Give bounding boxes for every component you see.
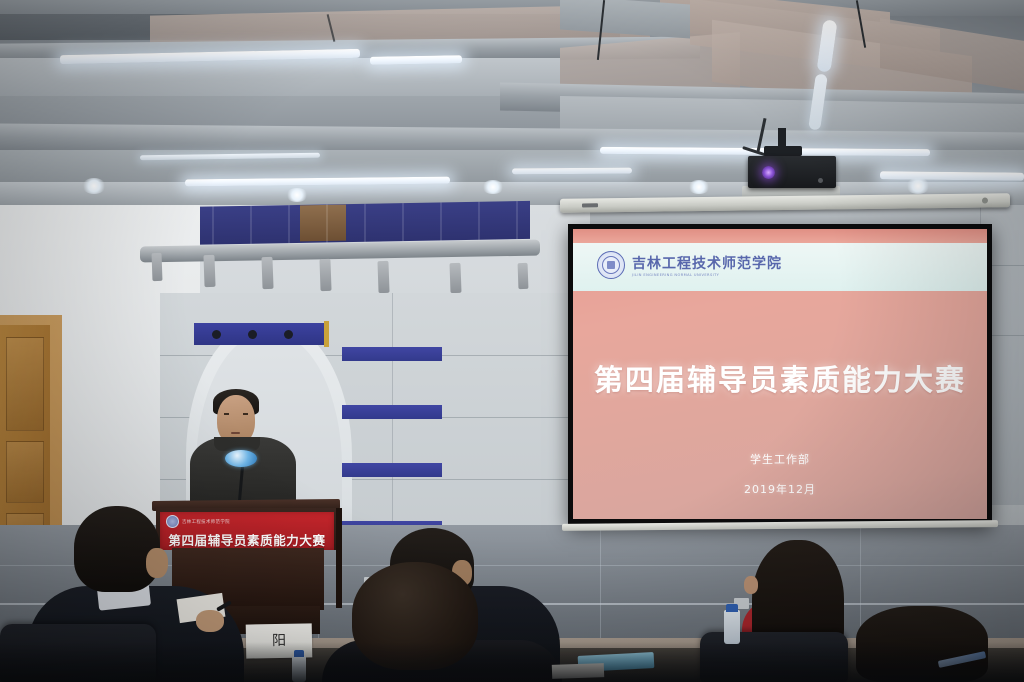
podium-edge: [336, 508, 342, 608]
ceiling-downlight-1: [82, 178, 106, 194]
attendee-right-ear: [744, 576, 758, 594]
slide-university-name-cn: 吉林工程技术师范学院: [632, 253, 782, 273]
conference-hall-photo: 吉林工程技术师范学院 JILIN ENGINEERING NORMAL UNIV…: [0, 0, 1024, 682]
ceiling-downlight-2: [286, 188, 308, 202]
slide-top-strip: [573, 229, 987, 243]
slide-subtitle-date: 2019年12月: [573, 481, 987, 497]
wall-blue-stripe: [342, 347, 442, 361]
wall-pipe-hook: [377, 261, 389, 293]
water-bottle[interactable]: [724, 610, 740, 644]
attendee-left-hand: [196, 610, 224, 632]
wall-box-edge: [324, 321, 329, 347]
ceiling-light-tube-6: [880, 171, 1024, 181]
podium-banner-text: 第四届辅导员素质能力大赛: [160, 530, 334, 549]
wall-pipe-hook: [261, 257, 273, 289]
slide-surface: 吉林工程技术师范学院 JILIN ENGINEERING NORMAL UNIV…: [573, 229, 987, 519]
wall-pipe-hook: [449, 263, 461, 293]
slide-subtitle-org: 学生工作部: [573, 451, 987, 467]
foreground-shadow: [0, 642, 1024, 682]
wall-blue-stripe: [342, 405, 442, 419]
university-seal-icon: [166, 515, 179, 528]
wall-pipe-hook: [203, 255, 215, 287]
university-seal-icon: [597, 251, 625, 279]
screen-frame: 吉林工程技术师范学院 JILIN ENGINEERING NORMAL UNIV…: [568, 224, 992, 524]
slide-university-name-en: JILIN ENGINEERING NORMAL UNIVERSITY: [632, 273, 782, 277]
slide-university-logo: 吉林工程技术师范学院 JILIN ENGINEERING NORMAL UNIV…: [597, 251, 782, 279]
wall-pipe-hook: [518, 263, 529, 289]
podium-banner-logo: 吉林工程技术师范学院: [166, 515, 230, 528]
wall-pipe-hook: [319, 259, 331, 291]
ceiling-downlight-4: [688, 180, 710, 194]
attendee-left-hair: [74, 506, 160, 592]
attendee-left-ear: [146, 548, 168, 578]
ceiling-downlight-3: [482, 180, 504, 194]
ceiling: [0, 0, 1024, 215]
podium-banner-logo-text: 吉林工程技术师范学院: [182, 519, 230, 525]
ceiling-light-tube-7: [512, 168, 632, 175]
microphone-icon: [225, 450, 257, 467]
wall-pipe-hook: [152, 253, 163, 281]
speaker-collar: [214, 437, 260, 451]
ceiling-slab-2: [0, 58, 560, 98]
wall-blue-control-box: [194, 323, 324, 345]
projector-lens-icon: [762, 166, 775, 179]
water-bottle-cap: [726, 604, 738, 612]
ceiling-downlight-5: [906, 178, 930, 194]
wall-blue-stripe: [342, 463, 442, 477]
podium-banner: 吉林工程技术师范学院 第四届辅导员素质能力大赛: [160, 512, 334, 550]
ceiling-light-tube-2: [370, 55, 462, 65]
slide-title: 第四届辅导员素质能力大赛: [573, 357, 987, 399]
